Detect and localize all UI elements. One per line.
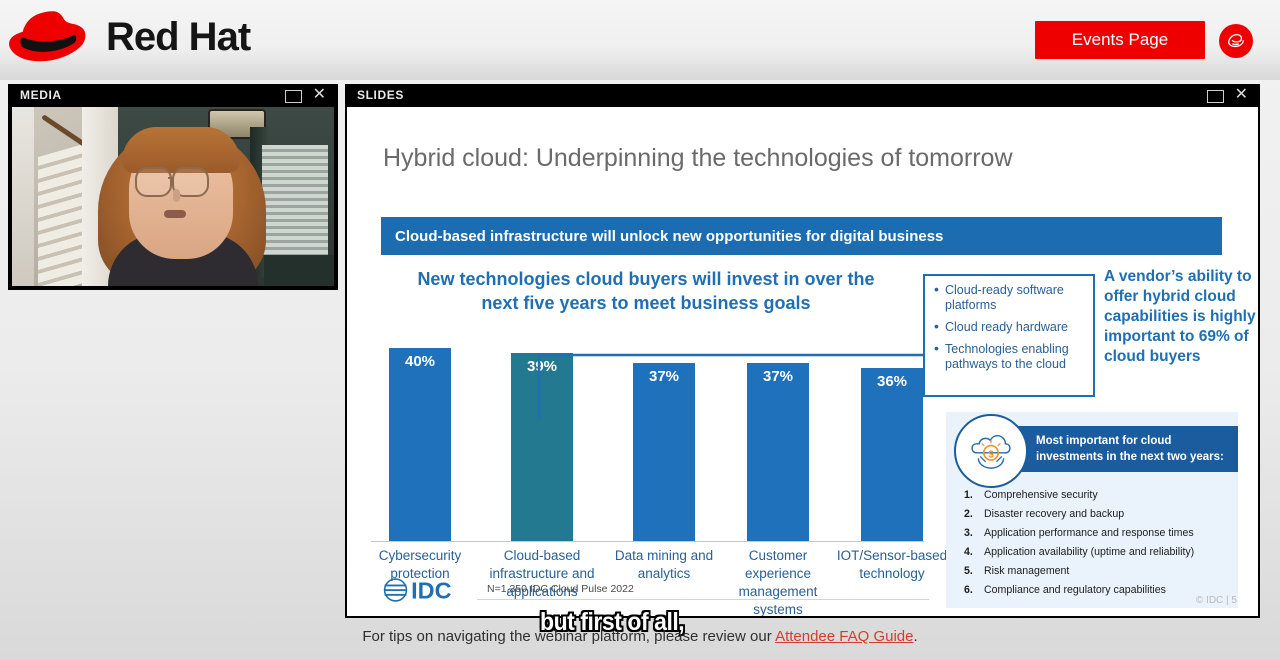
cloud-hands-dollar-icon: $	[954, 414, 1028, 488]
slide-banner: Cloud-based infrastructure will unlock n…	[381, 217, 1222, 255]
most-important-item-number: 4.	[964, 543, 984, 562]
most-important-item: 3.Application performance and response t…	[964, 524, 1232, 543]
slides-close-icon[interactable]: ✕	[1235, 87, 1248, 103]
most-important-heading: Most important for cloud investments in …	[1036, 433, 1232, 465]
most-important-item-number: 2.	[964, 505, 984, 524]
svg-text:$: $	[988, 449, 994, 460]
most-important-item-number: 1.	[964, 486, 984, 505]
slides-panel: SLIDES ✕ Hybrid cloud: Underpinning the …	[345, 84, 1260, 618]
chart-bar-rect: 39%	[511, 353, 573, 541]
most-important-item-text: Disaster recovery and backup	[984, 505, 1124, 524]
presenter-video[interactable]	[12, 107, 334, 286]
chart-bars: 40%39%37%37%36%	[371, 329, 924, 541]
callout-bullet-item: Cloud ready hardware	[933, 320, 1085, 335]
presenter-glasses-bridge	[168, 177, 174, 179]
chart-bar-rect: 37%	[747, 363, 809, 541]
most-important-item-text: Application availability (uptime and rel…	[984, 543, 1194, 562]
media-panel: MEDIA ✕	[8, 84, 338, 290]
most-important-item: 1.Comprehensive security	[964, 486, 1232, 505]
slides-restore-window-icon[interactable]	[1207, 90, 1224, 103]
most-important-item-text: Comprehensive security	[984, 486, 1098, 505]
chart-bar-rect: 37%	[633, 363, 695, 541]
media-panel-titlebar: MEDIA ✕	[8, 84, 338, 107]
events-page-button[interactable]: Events Page	[1035, 21, 1205, 59]
chart-bar-value: 36%	[861, 373, 923, 390]
slide-title: Hybrid cloud: Underpinning the technolog…	[383, 144, 1013, 173]
chart-bar-rect: 40%	[389, 348, 451, 541]
slides-panel-title: SLIDES	[357, 88, 404, 102]
callout-bullet-item: Technologies enabling pathways to the cl…	[933, 342, 1085, 372]
most-important-item: 5.Risk management	[964, 562, 1232, 581]
most-important-item-number: 5.	[964, 562, 984, 581]
footer-text-before: For tips on navigating the webinar platf…	[362, 628, 775, 645]
media-close-icon[interactable]: ✕	[313, 87, 326, 103]
most-important-card: Most important for cloud investments in …	[946, 412, 1238, 608]
cloud-hands-dollar-glyph: $	[964, 424, 1018, 478]
chart-bar-value: 37%	[633, 368, 695, 385]
slide-copyright: © IDC | 5	[1127, 595, 1237, 606]
video-bg-desk	[264, 255, 334, 286]
most-important-list: 1.Comprehensive security2.Disaster recov…	[964, 486, 1232, 600]
attendee-faq-link[interactable]: Attendee FAQ Guide	[775, 628, 913, 645]
presenter-nose	[173, 189, 180, 202]
platform-tip-footer: For tips on navigating the webinar platf…	[0, 628, 1280, 645]
most-important-item-text: Application performance and response tim…	[984, 524, 1194, 543]
most-important-item-number: 6.	[964, 581, 984, 600]
video-bg-window-blinds	[262, 145, 328, 255]
media-panel-title: MEDIA	[20, 88, 62, 102]
most-important-item-number: 3.	[964, 524, 984, 543]
brand-name: Red Hat	[106, 15, 250, 60]
most-important-item: 4.Application availability (uptime and r…	[964, 543, 1232, 562]
shadowman-glyph	[1225, 30, 1247, 52]
idc-logo: IDC	[383, 574, 469, 606]
slides-panel-titlebar: SLIDES ✕	[345, 84, 1260, 107]
most-important-band: Most important for cloud investments in …	[1002, 426, 1238, 472]
slide-footer-rule	[477, 599, 929, 600]
chart-bar-value: 40%	[389, 353, 451, 370]
callout-bullet-box: Cloud-ready software platformsCloud read…	[923, 274, 1095, 397]
presenter-mouth	[164, 210, 186, 218]
vendor-ability-note: A vendor’s ability to offer hybrid cloud…	[1104, 267, 1256, 367]
most-important-item-text: Risk management	[984, 562, 1069, 581]
chart-category-label: IOT/Sensor-based technology	[832, 547, 952, 583]
chart-category-label: Data mining and analytics	[604, 547, 724, 583]
chart-bar-rect: 36%	[861, 368, 923, 541]
page-header: Red Hat Events Page	[0, 0, 1280, 80]
slide-banner-text: Cloud-based infrastructure will unlock n…	[395, 228, 943, 245]
media-restore-window-icon[interactable]	[285, 90, 302, 103]
brand-logo-group: Red Hat	[8, 6, 250, 68]
bar-chart: New technologies cloud buyers will inves…	[371, 267, 924, 607]
redhat-fedora-logo	[8, 6, 94, 68]
presenter-hair-top	[122, 127, 240, 173]
chart-category-label: Customer experience management systems	[718, 547, 838, 616]
most-important-item: 2.Disaster recovery and backup	[964, 505, 1232, 524]
chart-bar-value: 39%	[511, 358, 573, 375]
slide-canvas: Hybrid cloud: Underpinning the technolog…	[347, 107, 1258, 616]
redhat-shadowman-icon[interactable]	[1219, 24, 1253, 58]
chart-title: New technologies cloud buyers will inves…	[411, 267, 881, 315]
chart-source-note: N=1,350 IDC Cloud Pulse 2022	[487, 583, 634, 595]
chart-bar-value: 37%	[747, 368, 809, 385]
presenter-glasses-left	[135, 167, 172, 197]
chart-axis-line	[371, 541, 924, 542]
callout-bullet-item: Cloud-ready software platforms	[933, 283, 1085, 313]
footer-text-after: .	[913, 628, 917, 645]
svg-text:IDC: IDC	[411, 578, 451, 604]
